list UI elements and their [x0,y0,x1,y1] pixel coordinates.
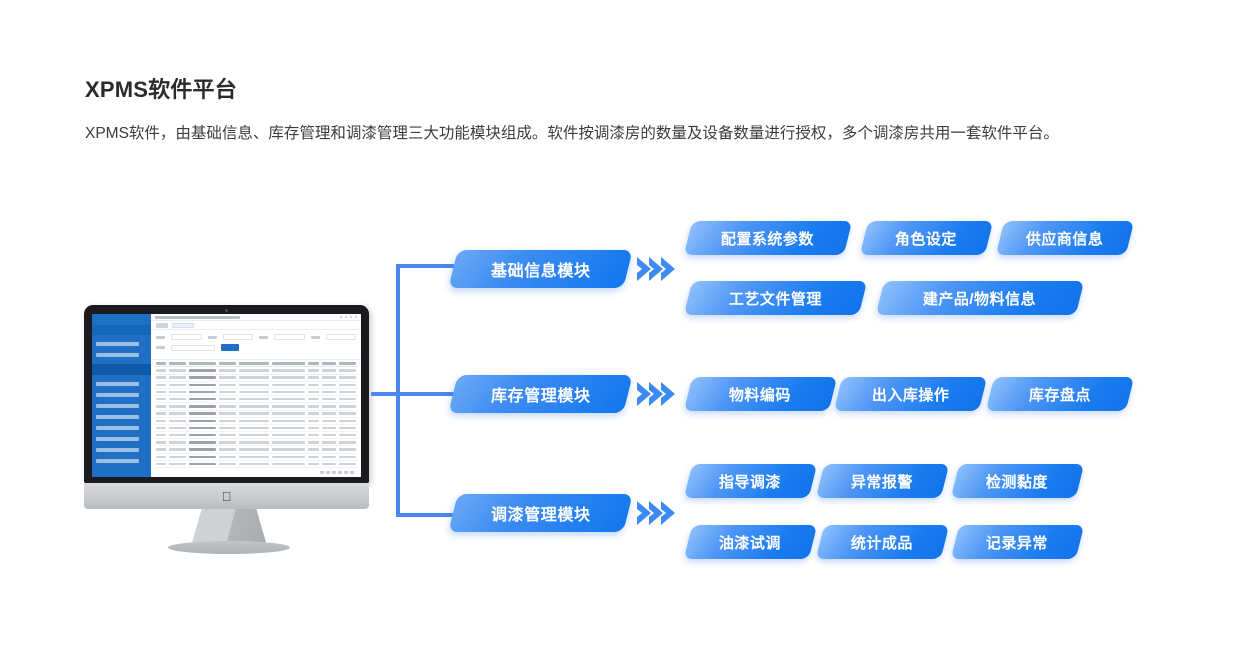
feature-pill[interactable]: 记录异常 [951,525,1084,559]
app-mock-filters [151,330,361,360]
feature-pill[interactable]: 工艺文件管理 [684,281,867,315]
feature-pill[interactable]: 统计成品 [816,525,949,559]
app-mock-topbar [151,314,361,321]
xpms-platform-infographic: XPMS软件平台 XPMS软件，由基础信息、库存管理和调漆管理三大功能模块组成。… [0,0,1260,650]
feature-pill-label: 出入库操作 [872,384,950,405]
feature-pill-label: 物料编码 [729,384,791,405]
double-chevron-right-icon [636,254,678,284]
feature-pill-label: 指导调漆 [719,471,781,492]
monitor-stand-base [168,541,290,554]
camera-dot-icon [225,309,228,312]
feature-pill-label: 油漆试调 [719,532,781,553]
feature-pill[interactable]: 出入库操作 [834,377,987,411]
connector-line-row-3 [396,513,454,517]
double-chevron-right-icon [636,498,678,528]
feature-pill[interactable]: 物料编码 [684,377,837,411]
feature-pill[interactable]: 供应商信息 [996,221,1134,255]
feature-pill[interactable]: 库存盘点 [986,377,1134,411]
feature-pill-label: 记录异常 [986,532,1048,553]
feature-pill[interactable]: 指导调漆 [684,464,817,498]
page-title: XPMS软件平台 [85,72,237,104]
feature-pill[interactable]: 配置系统参数 [684,221,852,255]
module-chip-inventory[interactable]: 库存管理模块 [448,375,632,413]
feature-pill[interactable]: 油漆试调 [684,525,817,559]
feature-pill[interactable]: 建产品/物料信息 [876,281,1084,315]
connector-bracket [371,258,461,523]
feature-pill[interactable]: 检测黏度 [951,464,1084,498]
feature-pill-label: 配置系统参数 [721,228,814,249]
module-chip-label: 调漆管理模块 [491,501,591,525]
app-mock-tabs [151,321,361,330]
feature-pill-label: 统计成品 [851,532,913,553]
feature-pill-label: 工艺文件管理 [729,288,822,309]
app-mock-main [151,314,361,477]
connector-line-row-2 [396,392,454,396]
module-chip-paint-mixing[interactable]: 调漆管理模块 [448,494,632,532]
module-chip-basic-info[interactable]: 基础信息模块 [448,250,632,288]
connector-line-row-1 [396,264,454,268]
monitor-bezel [84,305,369,483]
feature-pill-label: 建产品/物料信息 [923,288,1036,309]
apple-logo-icon:  [222,490,232,503]
app-mock-sidebar [92,314,151,477]
feature-pill-label: 异常报警 [851,471,913,492]
module-chip-label: 基础信息模块 [491,257,591,281]
app-mock-table [151,360,361,477]
monitor-chin:  [84,483,369,509]
feature-pill-label: 库存盘点 [1029,384,1091,405]
feature-pill-label: 检测黏度 [986,471,1048,492]
connector-line-vertical [396,264,400,517]
feature-pill-label: 供应商信息 [1026,228,1104,249]
monitor-screen [92,314,361,477]
feature-pill-label: 角色设定 [895,228,957,249]
imac-illustration:  [84,305,374,545]
double-chevron-right-icon [636,379,678,409]
module-chip-label: 库存管理模块 [491,382,591,406]
feature-pill[interactable]: 角色设定 [860,221,993,255]
page-description: XPMS软件，由基础信息、库存管理和调漆管理三大功能模块组成。软件按调漆房的数量… [85,117,1170,151]
feature-pill[interactable]: 异常报警 [816,464,949,498]
